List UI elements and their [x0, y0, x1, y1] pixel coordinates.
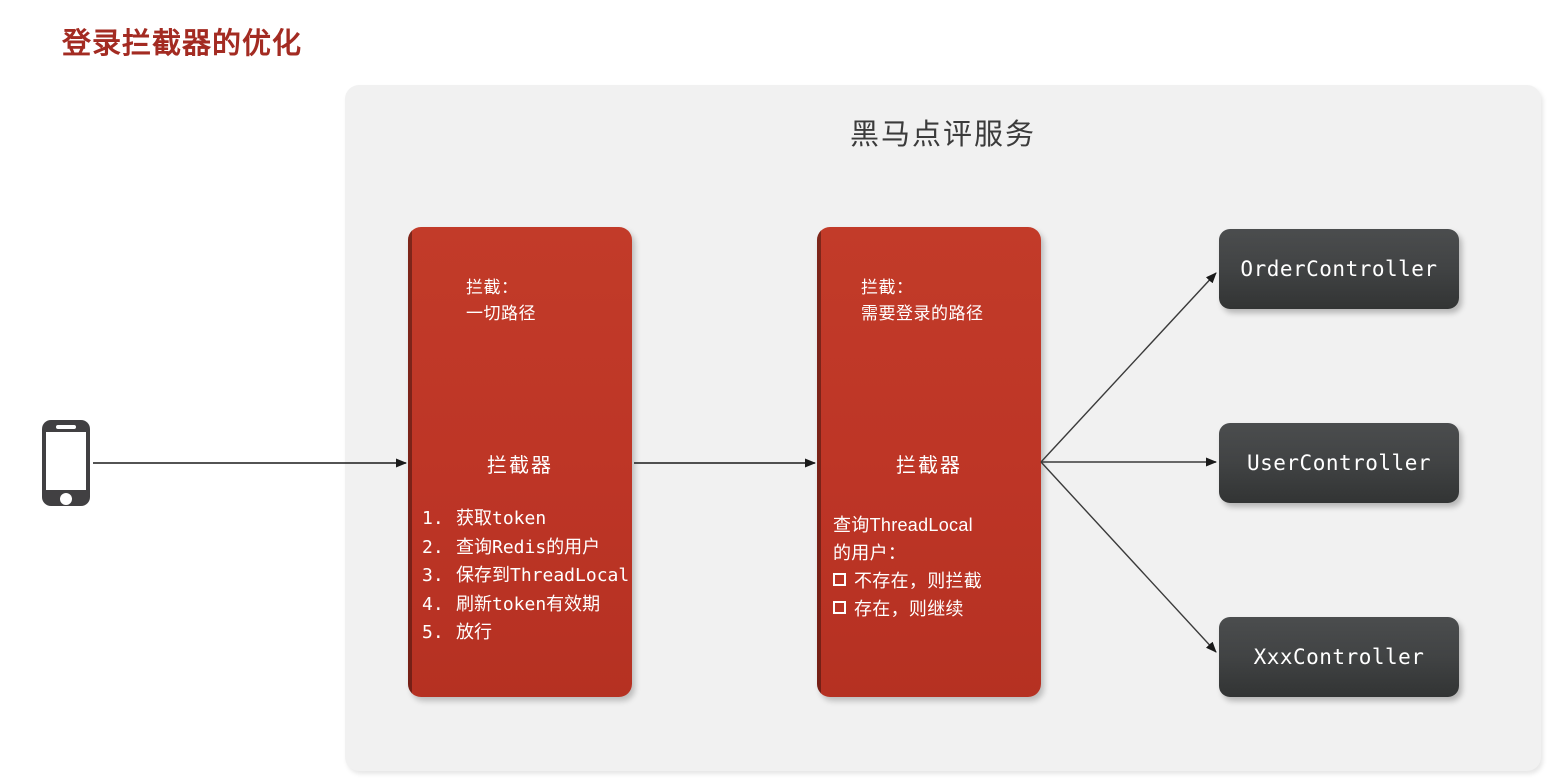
- interceptor-2-note: 查询ThreadLocal 的用户： 不存在，则拦截 存在，则继续: [833, 511, 1033, 623]
- checkbox-icon: [833, 573, 846, 586]
- controller-box-xxx: XxxController: [1219, 617, 1459, 697]
- step-number: 5.: [422, 619, 456, 648]
- list-item: 2.查询Redis的用户: [422, 534, 629, 563]
- interceptor-1-steps: 1.获取token 2.查询Redis的用户 3.保存到ThreadLocal …: [422, 505, 629, 648]
- phone-screen: [46, 432, 86, 490]
- step-number: 3.: [422, 562, 456, 591]
- list-item: 5.放行: [422, 619, 629, 648]
- list-item: 1.获取token: [422, 505, 629, 534]
- step-text: 刷新token有效期: [456, 594, 600, 615]
- interceptor-box-2: 拦截： 需要登录的路径 拦截器 查询ThreadLocal 的用户： 不存在，则…: [817, 227, 1041, 697]
- note-line: 的用户：: [833, 539, 1033, 567]
- list-item: 3.保存到ThreadLocal: [422, 562, 629, 591]
- service-title: 黑马点评服务: [345, 111, 1541, 153]
- step-number: 4.: [422, 591, 456, 620]
- interceptor-2-name: 拦截器: [817, 449, 1041, 478]
- page-title: 登录拦截器的优化: [62, 20, 302, 62]
- note-bullet: 存在，则继续: [833, 595, 1033, 623]
- controller-box-user: UserController: [1219, 423, 1459, 503]
- note-bullet-label: 存在，则继续: [854, 599, 964, 619]
- checkbox-icon: [833, 601, 846, 614]
- step-text: 获取token: [456, 508, 546, 529]
- interceptor-box-1: 拦截： 一切路径 拦截器 1.获取token 2.查询Redis的用户 3.保存…: [408, 227, 632, 697]
- phone-speaker-icon: [56, 425, 76, 429]
- interceptor-1-name: 拦截器: [408, 449, 632, 478]
- diagram-canvas: 登录拦截器的优化 黑马点评服务 拦截： 一切路径 拦截器 1.获取token 2…: [0, 0, 1562, 778]
- interceptor-1-scope: 拦截： 一切路径: [466, 275, 536, 327]
- step-text: 保存到ThreadLocal: [456, 565, 629, 586]
- list-item: 4.刷新token有效期: [422, 591, 629, 620]
- phone-home-button-icon: [60, 493, 72, 505]
- controller-box-order: OrderController: [1219, 229, 1459, 309]
- note-line: 查询ThreadLocal: [833, 511, 1033, 539]
- note-bullet: 不存在，则拦截: [833, 567, 1033, 595]
- interceptor-2-scope: 拦截： 需要登录的路径: [861, 275, 984, 327]
- step-text: 放行: [456, 622, 492, 643]
- step-number: 1.: [422, 505, 456, 534]
- step-text: 查询Redis的用户: [456, 537, 600, 558]
- smartphone-icon: [42, 420, 90, 506]
- note-bullet-label: 不存在，则拦截: [854, 571, 982, 591]
- step-number: 2.: [422, 534, 456, 563]
